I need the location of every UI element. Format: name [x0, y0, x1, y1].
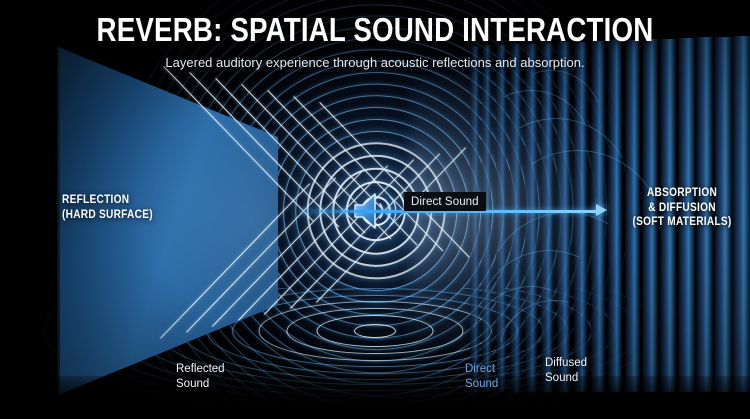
absorption-label-line3: (SOFT MATERIALS) — [633, 215, 732, 230]
reflection-line — [189, 72, 339, 227]
caption-reflected-sound: Reflected Sound — [176, 362, 225, 392]
curtain-fold — [732, 36, 750, 392]
reflection-label: REFLECTION (HARD SURFACE) — [62, 193, 153, 222]
absorption-label-line2: & DIFFUSION — [633, 201, 732, 216]
direct-sound-arrow-label: Direct Sound — [404, 192, 486, 211]
header: REVERB: SPATIAL SOUND INTERACTION Layere… — [0, 0, 750, 70]
reflection-label-line2: (HARD SURFACE) — [62, 208, 153, 223]
page-subtitle: Layered auditory experience through acou… — [0, 55, 750, 70]
reflection-line — [186, 177, 336, 332]
caption-direct-sound: Direct Sound — [465, 362, 498, 392]
reflection-label-line1: REFLECTION — [62, 193, 153, 208]
reflection-line — [160, 183, 310, 338]
direct-sound-arrow-head — [596, 204, 607, 216]
infographic-canvas: Direct Sound REVERB: SPATIAL SOUND INTER… — [0, 0, 750, 419]
page-title: REVERB: SPATIAL SOUND INTERACTION — [60, 13, 690, 46]
absorption-label-line1: ABSORPTION — [633, 186, 732, 201]
absorption-label: ABSORPTION & DIFFUSION (SOFT MATERIALS) — [633, 186, 732, 230]
direct-sound-arrow-label-text: Direct Sound — [411, 196, 479, 208]
reflection-line — [163, 66, 313, 221]
caption-diffused-sound: Diffused Sound — [545, 356, 587, 386]
